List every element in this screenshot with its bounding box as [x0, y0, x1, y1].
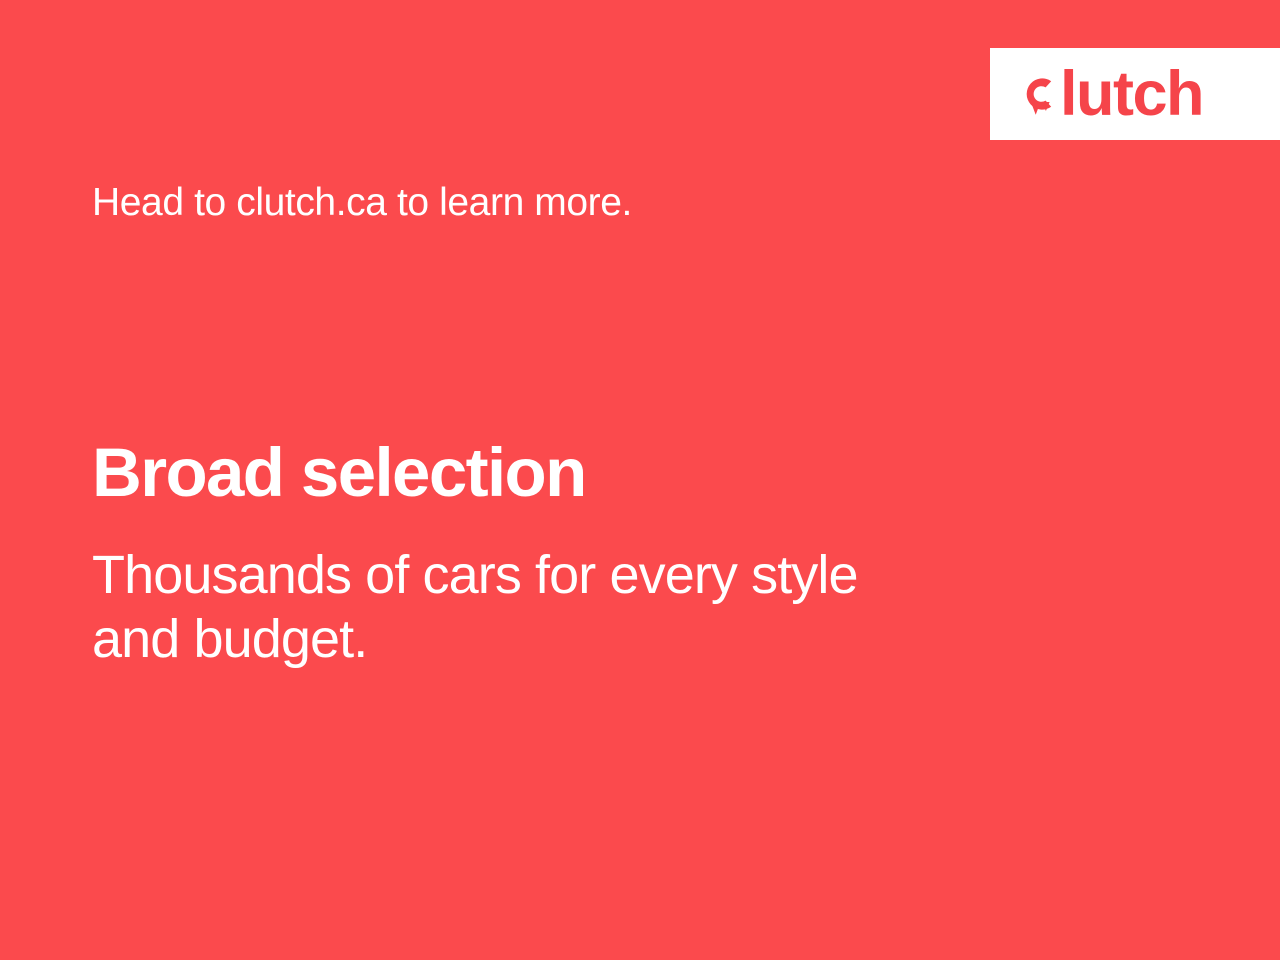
brand-wordmark: lutch [1060, 70, 1203, 119]
brand-logo-lockup: lutch [1018, 69, 1203, 120]
subheadline: Thousands of cars for every style and bu… [92, 543, 858, 672]
brand-logo-plate[interactable]: lutch [990, 48, 1280, 140]
subheadline-line-1: Thousands of cars for every style [92, 543, 858, 607]
clutch-c-mark-icon [1018, 69, 1060, 120]
tagline-text: Head to clutch.ca to learn more. [92, 180, 632, 226]
subheadline-line-2: and budget. [92, 607, 858, 671]
page-title: Broad selection [92, 437, 586, 509]
slide-canvas: lutch Head to clutch.ca to learn more. B… [0, 0, 1280, 960]
